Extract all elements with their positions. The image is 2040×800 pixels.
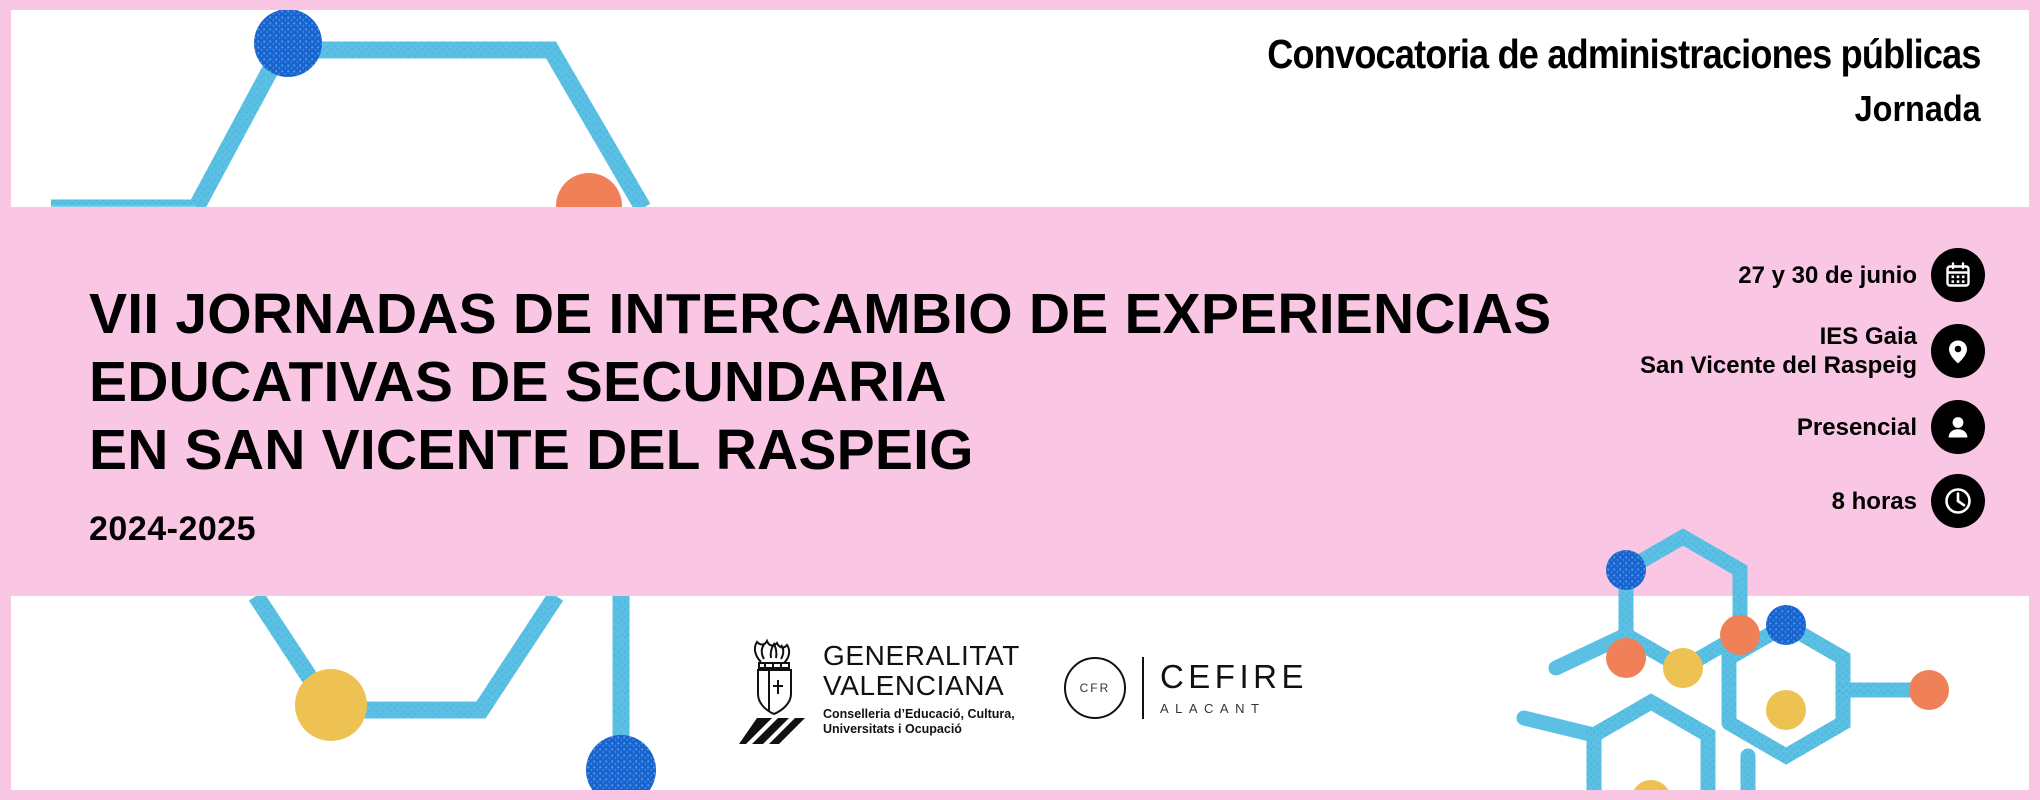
cefire-logo: CFR CEFIRE ALACANT bbox=[1064, 657, 1308, 719]
info-row-modality: Presencial bbox=[1797, 400, 1985, 454]
clock-icon bbox=[1931, 474, 1985, 528]
gva-name-line-2: VALENCIANA bbox=[823, 671, 1020, 701]
poster-canvas: Convocatoria de administraciones pública… bbox=[11, 10, 2029, 790]
deco-bottom-left-path bbox=[256, 596, 621, 750]
deco-node-blue-bottom bbox=[586, 735, 656, 790]
info-row-duration: 8 horas bbox=[1832, 474, 1985, 528]
header-block: Convocatoria de administraciones pública… bbox=[1170, 32, 1981, 130]
title-line-1: VII JORNADAS DE INTERCAMBIO DE EXPERIENC… bbox=[89, 280, 1551, 348]
calendar-icon bbox=[1931, 248, 1985, 302]
deco-node-blue-top bbox=[254, 10, 322, 77]
header-type-jornada: Jornada bbox=[1251, 87, 1981, 130]
info-list: 27 y 30 de junio bbox=[1640, 248, 1985, 528]
deco-top-left-path bbox=[51, 50, 643, 208]
gva-name-line-1: GENERALITAT bbox=[823, 641, 1020, 671]
cefire-divider bbox=[1142, 657, 1144, 719]
location-pin-icon bbox=[1931, 324, 1985, 378]
deco-node-yellow-bottom bbox=[295, 669, 367, 741]
poster-frame: Convocatoria de administraciones pública… bbox=[0, 0, 2040, 800]
deco-molecule-nodes bbox=[1606, 605, 1949, 790]
logo-row: GENERALITAT VALENCIANA Conselleria d’Edu… bbox=[737, 632, 1308, 744]
info-row-location: IES Gaia San Vicente del Raspeig bbox=[1640, 322, 1985, 380]
cefire-name: CEFIRE bbox=[1160, 660, 1308, 694]
info-row-date: 27 y 30 de junio bbox=[1738, 248, 1985, 302]
title-line-2: EDUCATIVAS DE SECUNDARIA bbox=[89, 348, 1551, 416]
generalitat-valenciana-logo: GENERALITAT VALENCIANA Conselleria d’Edu… bbox=[737, 632, 1020, 744]
page-title: VII JORNADAS DE INTERCAMBIO DE EXPERIENC… bbox=[89, 280, 1551, 484]
info-modality-text: Presencial bbox=[1797, 413, 1917, 442]
gva-department-line-2: Universitats i Ocupació bbox=[823, 722, 1020, 737]
gva-department-line-1: Conselleria d’Educació, Cultura, bbox=[823, 707, 1020, 722]
info-date-text: 27 y 30 de junio bbox=[1738, 261, 1917, 290]
info-duration-text: 8 horas bbox=[1832, 487, 1917, 516]
cfr-mark: CFR bbox=[1064, 657, 1126, 719]
info-location-text: IES Gaia San Vicente del Raspeig bbox=[1640, 322, 1917, 380]
person-icon bbox=[1931, 400, 1985, 454]
title-line-3: EN SAN VICENTE DEL RASPEIG bbox=[89, 416, 1551, 484]
academic-year: 2024-2025 bbox=[89, 510, 256, 549]
cefire-location: ALACANT bbox=[1160, 701, 1308, 716]
header-subtitle-convocatoria: Convocatoria de administraciones pública… bbox=[1268, 32, 1981, 77]
generalitat-valenciana-emblem bbox=[737, 632, 813, 744]
